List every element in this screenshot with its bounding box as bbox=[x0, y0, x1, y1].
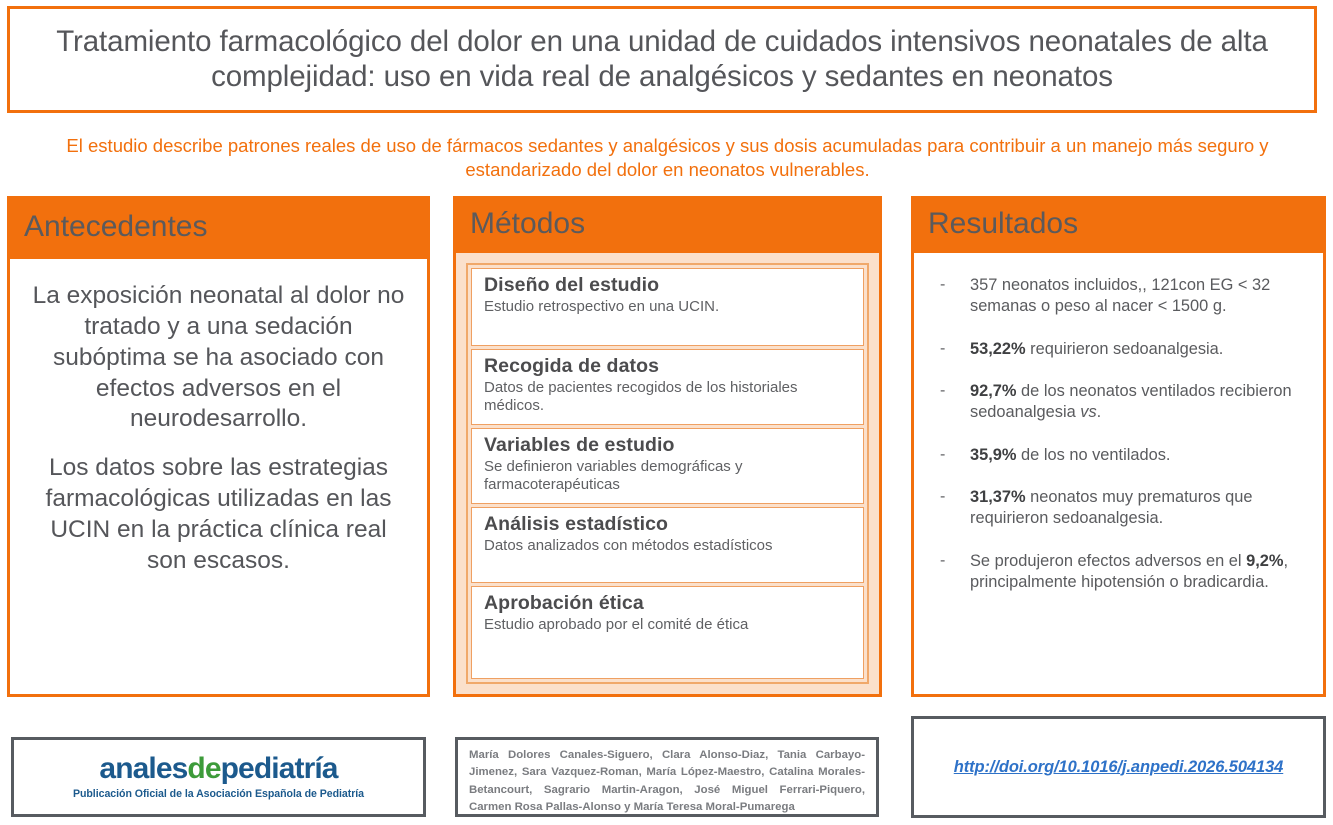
method-title: Análisis estadístico bbox=[484, 513, 853, 536]
logo-part-anales: anales bbox=[99, 752, 187, 785]
title-line-1: Tratamiento farmacológico del dolor en u… bbox=[56, 25, 1172, 58]
bullet-marker: - bbox=[928, 275, 970, 318]
subtitle: El estudio describe patrones reales de u… bbox=[30, 134, 1305, 183]
bullet-marker: - bbox=[928, 339, 970, 360]
method-item: Recogida de datos Datos de pacientes rec… bbox=[471, 349, 864, 425]
method-title: Aprobación ética bbox=[484, 592, 853, 615]
result-text: 53,22% requirieron sedoanalgesia. bbox=[970, 339, 1309, 360]
result-item: - 92,7% de los neonatos ventilados recib… bbox=[928, 381, 1309, 424]
result-text: 35,9% de los no ventilados. bbox=[970, 445, 1309, 466]
method-description: Estudio aprobado por el comité de ética bbox=[484, 616, 853, 634]
panel-antecedentes-heading: Antecedentes bbox=[7, 212, 207, 244]
method-title: Recogida de datos bbox=[484, 355, 853, 378]
methods-list: Diseño del estudio Estudio retrospectivo… bbox=[466, 263, 869, 684]
bullet-marker: - bbox=[928, 381, 970, 424]
panel-metodos: Métodos Diseño del estudio Estudio retro… bbox=[453, 196, 882, 697]
journal-logo-box: analesdepediatría Publicación Oficial de… bbox=[11, 737, 426, 817]
method-item: Variables de estudio Se definieron varia… bbox=[471, 428, 864, 504]
method-title: Variables de estudio bbox=[484, 434, 853, 457]
method-description: Datos analizados con métodos estadístico… bbox=[484, 537, 853, 555]
method-item: Análisis estadístico Datos analizados co… bbox=[471, 507, 864, 583]
panel-metodos-body: Diseño del estudio Estudio retrospectivo… bbox=[453, 253, 882, 697]
bullet-marker: - bbox=[928, 445, 970, 466]
result-text: 31,37% neonatos muy prematuros que requi… bbox=[970, 487, 1309, 530]
logo-part-de: de bbox=[187, 752, 220, 785]
panel-metodos-heading: Métodos bbox=[453, 209, 585, 241]
journal-logo: analesdepediatría bbox=[99, 754, 337, 784]
method-description: Estudio retrospectivo en una UCIN. bbox=[484, 298, 853, 316]
antecedentes-paragraph: Los datos sobre las estrategias farmacol… bbox=[32, 453, 405, 576]
title-box: Tratamiento farmacológico del dolor en u… bbox=[7, 6, 1317, 113]
panel-antecedentes-header: Antecedentes bbox=[7, 196, 430, 259]
method-item: Diseño del estudio Estudio retrospectivo… bbox=[471, 268, 864, 346]
result-item: - Se produjeron efectos adversos en el 9… bbox=[928, 551, 1309, 594]
doi-box: http://doi.org/10.1016/j.anpedi.2026.504… bbox=[911, 716, 1326, 818]
method-description: Se definieron variables demográficas y f… bbox=[484, 458, 853, 493]
journal-logo-tagline: Publicación Oficial de la Asociación Esp… bbox=[73, 788, 364, 800]
authors-list: María Dolores Canales-Siguero, Clara Alo… bbox=[469, 747, 865, 817]
method-description: Datos de pacientes recogidos de los hist… bbox=[484, 379, 853, 414]
panel-metodos-header: Métodos bbox=[453, 196, 882, 253]
method-title: Diseño del estudio bbox=[484, 274, 853, 297]
page-title: Tratamiento farmacológico del dolor en u… bbox=[10, 25, 1314, 93]
result-item: - 31,37% neonatos muy prematuros que req… bbox=[928, 487, 1309, 530]
authors-box: María Dolores Canales-Siguero, Clara Alo… bbox=[455, 737, 879, 817]
panel-resultados-body: - 357 neonatos incluidos,, 121con EG < 3… bbox=[911, 253, 1326, 697]
result-item: - 357 neonatos incluidos,, 121con EG < 3… bbox=[928, 275, 1309, 318]
result-text: Se produjeron efectos adversos en el 9,2… bbox=[970, 551, 1309, 594]
panel-antecedentes-body: La exposición neonatal al dolor no trata… bbox=[7, 259, 430, 697]
antecedentes-paragraph: La exposición neonatal al dolor no trata… bbox=[32, 281, 405, 435]
doi-link[interactable]: http://doi.org/10.1016/j.anpedi.2026.504… bbox=[954, 758, 1284, 777]
result-item: - 53,22% requirieron sedoanalgesia. bbox=[928, 339, 1309, 360]
panel-resultados-heading: Resultados bbox=[911, 209, 1078, 241]
result-text: 357 neonatos incluidos,, 121con EG < 32 … bbox=[970, 275, 1309, 318]
panel-resultados: Resultados - 357 neonatos incluidos,, 12… bbox=[911, 196, 1326, 697]
bullet-marker: - bbox=[928, 551, 970, 594]
panel-resultados-header: Resultados bbox=[911, 196, 1326, 253]
bullet-marker: - bbox=[928, 487, 970, 530]
panel-antecedentes: Antecedentes La exposición neonatal al d… bbox=[7, 196, 430, 697]
result-text: 92,7% de los neonatos ventilados recibie… bbox=[970, 381, 1309, 424]
result-item: - 35,9% de los no ventilados. bbox=[928, 445, 1309, 466]
method-item: Aprobación ética Estudio aprobado por el… bbox=[471, 586, 864, 679]
logo-part-pediatria: pediatría bbox=[221, 752, 338, 785]
